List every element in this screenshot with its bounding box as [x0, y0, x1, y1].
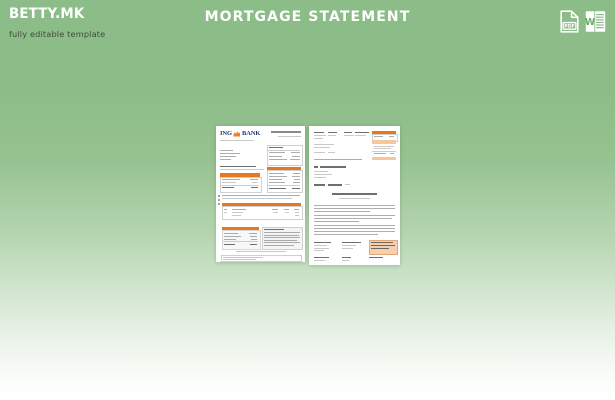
page-title: MORTGAGE STATEMENT	[0, 9, 615, 25]
page1-row-total-value	[251, 187, 258, 188]
page1-row-value	[250, 179, 258, 180]
page2-body-line	[314, 171, 328, 172]
page1-summary-value	[291, 152, 300, 153]
word-file-icon[interactable]: W	[585, 10, 606, 33]
page1-disclosure-heading	[264, 229, 284, 230]
page1-addr-line	[220, 156, 236, 157]
page1-breakdown-label	[224, 239, 236, 240]
page1-row-value	[294, 179, 300, 180]
page1-summary-line	[269, 147, 283, 148]
page2-body-line	[314, 159, 362, 160]
page1-row-value	[293, 182, 300, 183]
page2-footer-heading	[342, 257, 351, 258]
page2-col-line	[342, 248, 353, 249]
page2-info-heading	[355, 132, 369, 133]
page2-summary-total-row	[372, 157, 396, 161]
page1-disclosure-line	[264, 237, 300, 238]
page1-tx-cell	[285, 212, 289, 213]
ing-bank-logo: ING BANK	[220, 131, 260, 138]
page1-tx-cell	[232, 215, 241, 216]
page2-paragraph-line	[314, 208, 395, 209]
page1-summary-line	[269, 156, 282, 157]
page1-row-label	[269, 173, 284, 174]
page2-paragraph-line	[314, 205, 395, 206]
page2-info-heading	[314, 132, 324, 133]
page2-centered-heading	[332, 193, 377, 195]
page1-addr-line	[220, 150, 233, 151]
page2-info-heading	[344, 132, 352, 133]
page2-section-marker	[314, 166, 318, 168]
ing-lion-icon	[233, 131, 240, 137]
document-page-1[interactable]: ING BANK	[216, 126, 305, 262]
page1-row-label	[222, 179, 240, 180]
page2-paragraph-line	[314, 228, 395, 229]
page2-col-line	[314, 250, 324, 251]
page2-summary-value	[390, 153, 394, 154]
page1-tx-cell	[272, 209, 278, 210]
page2-body-line	[314, 144, 334, 145]
page1-tx-cell	[295, 212, 299, 213]
page2-body-strong	[328, 184, 342, 186]
page2-summary-line	[374, 148, 391, 149]
page2-col-heading	[342, 242, 361, 243]
page2-info-line	[355, 135, 366, 136]
page1-note-line	[222, 195, 300, 196]
page1-disclosure-line	[264, 232, 300, 233]
ing-logo-word-left: ING	[220, 131, 232, 138]
page1-breakdown-value	[251, 239, 257, 240]
page1-note-line	[222, 198, 292, 199]
page2-callout-line	[371, 245, 395, 246]
page2-paragraph-line	[314, 221, 359, 222]
page2-footer-heading	[369, 257, 383, 258]
page2-body-line	[314, 177, 326, 178]
page1-breakdown-label	[224, 236, 241, 237]
page1-tx-cell	[294, 209, 299, 210]
page1-summary-value	[290, 159, 300, 160]
page1-row-label	[269, 179, 282, 180]
ing-logo-word-right: BANK	[242, 131, 260, 138]
page1-summary-line	[269, 159, 287, 160]
svg-text:W: W	[585, 17, 595, 28]
page2-col-line	[314, 245, 327, 246]
document-preview[interactable]: ING BANK	[216, 126, 400, 266]
page1-ref-heading	[271, 131, 301, 133]
page1-row-label	[269, 182, 285, 183]
page1-disclosure-box	[262, 227, 303, 250]
page2-callout-line	[371, 242, 393, 243]
page2-summary-label	[374, 153, 386, 154]
page2-paragraph-line	[314, 225, 395, 226]
page1-disclosure-line	[264, 240, 297, 241]
page1-breakdown-value	[249, 233, 257, 234]
template-preview-canvas: BETTY.MK fully editable template MORTGAG…	[0, 0, 615, 400]
pdf-file-icon[interactable]: PDF	[560, 10, 579, 33]
page1-tx-cell	[295, 215, 299, 216]
page1-row-rule	[221, 185, 259, 186]
page2-summary-value	[389, 136, 394, 137]
page1-addr-line	[220, 153, 240, 154]
page1-row-label	[222, 182, 236, 183]
page1-breakdown-value	[250, 236, 257, 237]
page2-info-line	[314, 135, 326, 136]
page2-col-line	[314, 248, 329, 249]
page2-paragraph-line	[314, 234, 378, 235]
page2-paragraph-line	[314, 215, 395, 216]
svg-text:PDF: PDF	[564, 24, 575, 30]
page1-row-total-label	[222, 187, 234, 188]
page1-tx-cell	[224, 209, 227, 210]
page2-summary-line	[374, 146, 394, 147]
page1-side-marker	[218, 195, 220, 197]
page2-paragraph-line	[314, 211, 370, 212]
page2-body-line	[328, 152, 335, 153]
page2-callout-line	[371, 248, 389, 249]
page2-centered-subheading	[339, 198, 370, 199]
page1-disclosure-line	[264, 242, 300, 243]
page2-body-strong	[314, 184, 325, 186]
page2-section-heading	[320, 166, 346, 168]
page1-disclosure-line	[264, 245, 294, 246]
page2-summary-label	[374, 136, 383, 137]
page1-row-rule	[268, 185, 300, 186]
page2-body-line	[314, 174, 332, 175]
page1-disclosure-line	[264, 235, 299, 236]
page1-summary-value	[292, 156, 300, 157]
page2-info-line	[328, 135, 336, 136]
page1-side-marker	[218, 203, 220, 205]
page1-row-total-value	[292, 188, 300, 189]
page1-ref-line	[278, 136, 301, 137]
page1-statement-title	[220, 166, 256, 167]
page1-footer-line	[223, 259, 256, 260]
page1-tx-cell	[273, 212, 278, 213]
page2-footer-heading	[314, 257, 329, 258]
brand-tagline: fully editable template	[9, 29, 229, 39]
page2-paragraph-line	[314, 218, 392, 219]
page2-body-line	[314, 147, 330, 148]
page2-footer-line	[314, 260, 325, 261]
page2-info-heading	[328, 132, 337, 133]
page1-footer-notice	[236, 251, 286, 252]
page2-summary-subheader	[372, 140, 396, 144]
page1-tx-cell	[284, 209, 289, 210]
page1-breakdown-total-label	[224, 244, 235, 245]
page1-addr-line	[220, 159, 231, 160]
page2-body-line	[314, 152, 325, 153]
page1-footer-line	[223, 257, 263, 258]
page1-breakdown-label	[224, 233, 238, 234]
page1-side-marker	[218, 199, 220, 201]
page2-footer-line	[342, 260, 349, 261]
page2-col-heading	[314, 242, 331, 243]
page1-tx-cell	[232, 212, 243, 213]
page1-summary-line	[269, 152, 285, 153]
page1-breakdown-total-value	[250, 244, 257, 245]
page2-col-line	[342, 245, 356, 246]
page2-info-line	[314, 138, 323, 139]
page1-row-label	[269, 176, 287, 177]
page2-paragraph-line	[314, 231, 395, 232]
page1-subheader-line	[220, 140, 254, 141]
document-page-2[interactable]	[309, 126, 400, 265]
page1-tx-cell	[224, 212, 227, 213]
page1-breakdown-rule	[223, 241, 258, 242]
page1-row-value	[293, 173, 300, 174]
page1-row-value	[252, 182, 258, 183]
page1-row-total-label	[269, 188, 286, 189]
format-icons-group: PDF W	[560, 10, 606, 33]
page2-summary-rule	[372, 151, 396, 152]
page1-title-rule	[220, 169, 264, 170]
page1-tx-cell	[232, 209, 246, 210]
page2-body-line	[345, 184, 350, 185]
page1-row-value	[292, 176, 300, 177]
page2-info-line	[344, 135, 354, 136]
page1-summary-rule	[268, 150, 300, 151]
